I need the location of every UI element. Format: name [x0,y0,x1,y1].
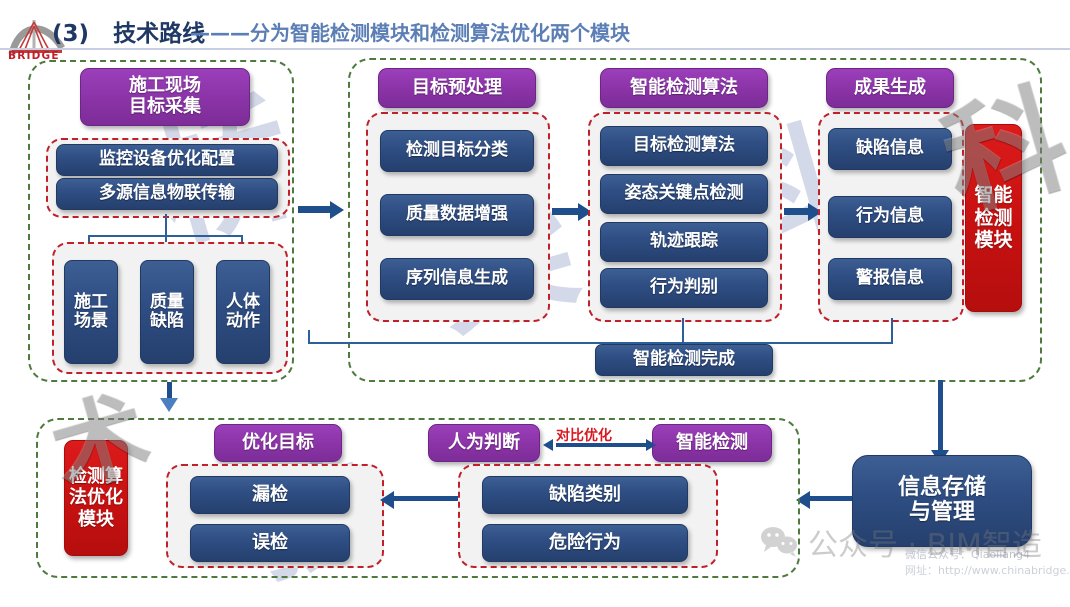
flow-to-storage-line [938,380,943,456]
wechat-icon [760,525,800,559]
stage-collect-header-label: 施工现场 目标采集 [129,76,201,117]
collect-input-0[interactable]: 监控设备优化配置 [56,144,278,176]
collect-target-1-label: 质量 缺陷 [150,293,184,331]
preprocess-item-2[interactable]: 序列信息生成 [380,258,534,300]
stage-optimize-goal-header: 优化目标 [214,424,342,462]
stage-algorithm-header: 智能检测算法 [600,68,768,108]
compare-item-1-label: 危险行为 [549,533,621,553]
output-item-1-label: 行为信息 [856,207,924,226]
page-title-index: (3) [52,21,89,47]
compare-arrow-label: 对比优化 [556,425,612,445]
optimize-goal-item-0[interactable]: 漏检 [190,476,350,514]
compare-arrow-left [543,439,553,451]
slide-canvas: BRIDGE (3) 技术路线 ———分为智能检测模块和检测算法优化两个模块 桥… [0,0,1070,582]
collect-input-0-label: 监控设备优化配置 [99,150,235,169]
flow-storage-to-compare-line [810,496,852,501]
compare-arrow-right [646,439,656,451]
preprocess-item-0-label: 检测目标分类 [406,141,508,160]
collect-input-1[interactable]: 多源信息物联传输 [56,178,278,210]
detect-done-box[interactable]: 智能检测完成 [595,344,773,376]
algorithm-item-1-label: 姿态关键点检测 [625,184,744,203]
flow-compare-to-goal-arrow [380,491,394,509]
algorithm-item-0-label: 目标检测算法 [633,136,735,155]
storage-label: 信息存储 与管理 [898,476,986,525]
compare-item-0-label: 缺陷类别 [549,485,621,505]
stage-compare-human-header[interactable]: 人为判断 [428,424,540,462]
stage-collect-header: 施工现场 目标采集 [80,68,250,126]
module-optimize-text: 检测算 法优化 模块 [69,466,123,531]
stage-optimize-goal-header-label: 优化目标 [242,433,314,454]
output-item-0[interactable]: 缺陷信息 [828,128,952,170]
stage-compare-auto-label: 智能检测 [676,433,748,454]
detect-done-stem [682,318,684,344]
output-item-2-label: 警报信息 [856,269,924,288]
flow-to-optimize-arrow [160,398,178,412]
collect-target-0-label: 施工 场景 [74,293,108,331]
watermark-line-1: 微信公众号：Qiaoliang4 [905,546,1030,562]
preprocess-item-1[interactable]: 质量数据增强 [380,194,534,236]
algorithm-item-3[interactable]: 行为判别 [600,268,768,308]
algorithm-item-3-label: 行为判别 [650,278,718,297]
output-item-0-label: 缺陷信息 [856,139,924,158]
optimize-goal-item-1[interactable]: 误检 [190,524,350,562]
algorithm-item-2-label: 轨迹跟踪 [650,232,718,251]
optimize-goal-item-0-label: 漏检 [252,485,288,505]
module-detection-text: 智能 检测 模块 [974,184,1012,252]
collect-target-0[interactable]: 施工 场景 [64,260,118,364]
stage-compare-auto-header[interactable]: 智能检测 [652,424,772,462]
flow-compare-to-goal-line [394,496,468,501]
preprocess-item-0[interactable]: 检测目标分类 [380,130,534,172]
module-optimize-label: 检测算 法优化 模块 术 [64,440,128,556]
compare-double-arrow-line [556,443,646,447]
collect-input-1-label: 多源信息物联传输 [99,184,235,203]
detect-done-right-stub [891,318,893,344]
collect-target-1[interactable]: 质量 缺陷 [140,260,194,364]
stage-output-header-label: 成果生成 [854,78,926,99]
algorithm-item-0[interactable]: 目标检测算法 [600,126,768,166]
stage-output-header: 成果生成 [826,68,954,108]
flow-preprocess-to-algorithm-line [552,208,578,215]
module-detection-label: 智能 检测 模块 科 [965,124,1022,312]
svg-text:BRIDGE: BRIDGE [8,50,60,60]
compare-item-1[interactable]: 危险行为 [482,524,688,562]
algorithm-item-2[interactable]: 轨迹跟踪 [600,222,768,262]
stage-algorithm-header-label: 智能检测算法 [630,78,738,99]
slide-header: BRIDGE (3) 技术路线 ———分为智能检测模块和检测算法优化两个模块 [0,6,1070,48]
detect-done-label: 智能检测完成 [633,350,735,369]
watermark-line-2: 网址：http://www.chinabridge.org [905,562,1070,578]
optimize-goal-item-1-label: 误检 [252,533,288,553]
stage-preprocess-header-label: 目标预处理 [412,78,502,99]
stage-preprocess-header: 目标预处理 [378,68,536,108]
output-item-1[interactable]: 行为信息 [828,196,952,238]
stage-compare-human-label: 人为判断 [448,433,520,454]
algorithm-item-1[interactable]: 姿态关键点检测 [600,174,768,214]
flow-collect-to-preprocess-line [298,206,330,213]
page-subtitle: ———分为智能检测模块和检测算法优化两个模块 [190,17,630,46]
preprocess-item-1-label: 质量数据增强 [406,205,508,224]
header-divider [0,48,1070,50]
collect-branch-stem [165,214,167,236]
collect-target-2[interactable]: 人体 动作 [216,260,270,364]
flow-algorithm-to-output-line [784,208,808,215]
output-item-2[interactable]: 警报信息 [828,258,952,300]
page-title: (3) 技术路线 [52,14,205,48]
compare-item-0[interactable]: 缺陷类别 [482,476,688,514]
collect-target-2-label: 人体 动作 [226,293,260,331]
preprocess-item-2-label: 序列信息生成 [406,269,508,288]
flow-collect-to-preprocess-arrow [330,201,344,219]
